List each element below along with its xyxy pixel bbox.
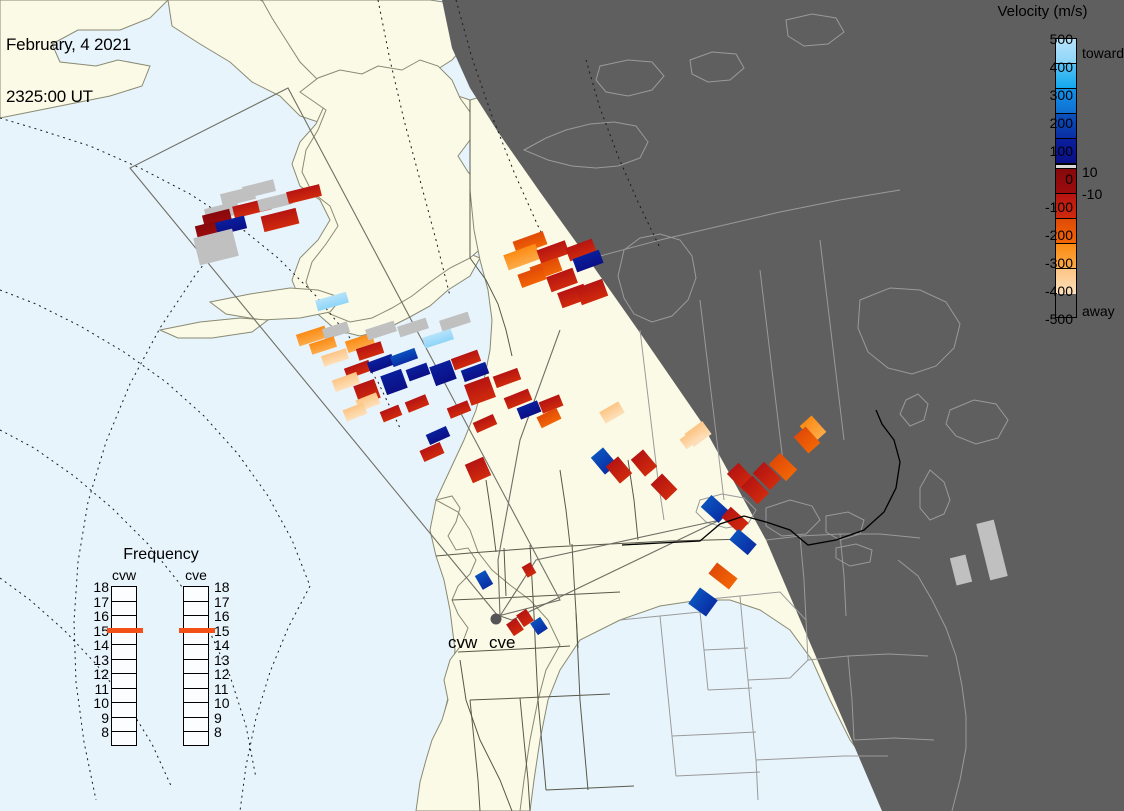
- timestamp-date: February, 4 2021: [6, 36, 131, 54]
- frequency-tick-label: 11: [214, 682, 238, 697]
- frequency-tick-label: 9: [214, 711, 238, 726]
- frequency-cell: [112, 631, 136, 646]
- colorbar-tick-label: -300: [1027, 255, 1073, 271]
- colorbar-tick-label: -500: [1027, 311, 1073, 327]
- frequency-tick-label: 14: [214, 638, 238, 653]
- velocity-map-figure: February, 4 2021 2325:00 UT Velocity (m/…: [0, 0, 1124, 811]
- frequency-cell: [112, 660, 136, 675]
- frequency-current-marker: [179, 628, 215, 633]
- frequency-cell: [184, 674, 208, 689]
- frequency-legend-title: Frequency: [85, 546, 237, 564]
- frequency-cell: [112, 703, 136, 718]
- frequency-cell: [112, 587, 136, 602]
- colorbar-tick-label: 0: [1027, 171, 1073, 187]
- colorbar-tick-label: 200: [1027, 115, 1073, 131]
- timestamp-block: February, 4 2021 2325:00 UT: [6, 2, 131, 140]
- frequency-cell: [112, 732, 136, 747]
- frequency-ticks-cvw: 18171615141312111098: [85, 580, 109, 740]
- frequency-cell: [112, 602, 136, 617]
- colorbar-negative-threshold-label: -10: [1082, 186, 1102, 202]
- colorbar-tick-label: -400: [1027, 283, 1073, 299]
- frequency-legend: Frequency cvw cve 18171615141312111098 1…: [85, 546, 237, 786]
- frequency-tick-label: 18: [214, 580, 238, 595]
- frequency-tick-label: 9: [85, 711, 109, 726]
- frequency-cell: [184, 587, 208, 602]
- site-label-cve: cve: [489, 633, 515, 653]
- velocity-colorbar-title: Velocity (m/s): [975, 3, 1110, 20]
- frequency-tick-label: 8: [85, 725, 109, 740]
- colorbar-toward-label: toward: [1082, 45, 1124, 61]
- frequency-tick-label: 15: [214, 624, 238, 639]
- frequency-tick-label: 14: [85, 638, 109, 653]
- frequency-cell: [184, 631, 208, 646]
- frequency-cell: [112, 645, 136, 660]
- colorbar-tick-label: 500: [1027, 31, 1073, 47]
- frequency-cell: [184, 689, 208, 704]
- site-label-cvw: cvw: [448, 633, 477, 653]
- frequency-cell: [112, 674, 136, 689]
- frequency-cell: [184, 645, 208, 660]
- frequency-tick-label: 15: [85, 624, 109, 639]
- velocity-colorbar: Velocity (m/s) 5004003002001000-100-200-…: [975, 0, 1124, 340]
- frequency-tick-label: 16: [214, 609, 238, 624]
- colorbar-positive-threshold-label: 10: [1082, 164, 1098, 180]
- colorbar-tick-label: 300: [1027, 87, 1073, 103]
- frequency-cell: [184, 703, 208, 718]
- frequency-tick-label: 10: [214, 696, 238, 711]
- frequency-cell: [184, 602, 208, 617]
- frequency-tick-label: 8: [214, 725, 238, 740]
- frequency-tick-label: 11: [85, 682, 109, 697]
- frequency-tick-label: 13: [85, 653, 109, 668]
- frequency-cell: [184, 660, 208, 675]
- frequency-bar-cvw: [111, 586, 137, 746]
- frequency-tick-label: 17: [85, 595, 109, 610]
- colorbar-tick-label: -100: [1027, 199, 1073, 215]
- frequency-current-marker: [107, 628, 143, 633]
- frequency-tick-label: 12: [85, 667, 109, 682]
- colorbar-tick-label: -200: [1027, 227, 1073, 243]
- frequency-column-name-cve: cve: [173, 567, 219, 583]
- frequency-cell: [112, 689, 136, 704]
- frequency-cell: [184, 718, 208, 733]
- frequency-cell: [184, 732, 208, 747]
- frequency-tick-label: 17: [214, 595, 238, 610]
- frequency-tick-label: 18: [85, 580, 109, 595]
- frequency-cell: [112, 718, 136, 733]
- timestamp-time: 2325:00 UT: [6, 88, 131, 106]
- radar-site-marker: [491, 614, 502, 625]
- colorbar-away-label: away: [1082, 303, 1115, 319]
- colorbar-tick-label: 400: [1027, 59, 1073, 75]
- colorbar-tick-label: 100: [1027, 143, 1073, 159]
- frequency-tick-label: 16: [85, 609, 109, 624]
- frequency-tick-label: 12: [214, 667, 238, 682]
- frequency-tick-label: 10: [85, 696, 109, 711]
- frequency-tick-label: 13: [214, 653, 238, 668]
- frequency-ticks-cve: 18171615141312111098: [214, 580, 238, 740]
- frequency-bar-cve: [183, 586, 209, 746]
